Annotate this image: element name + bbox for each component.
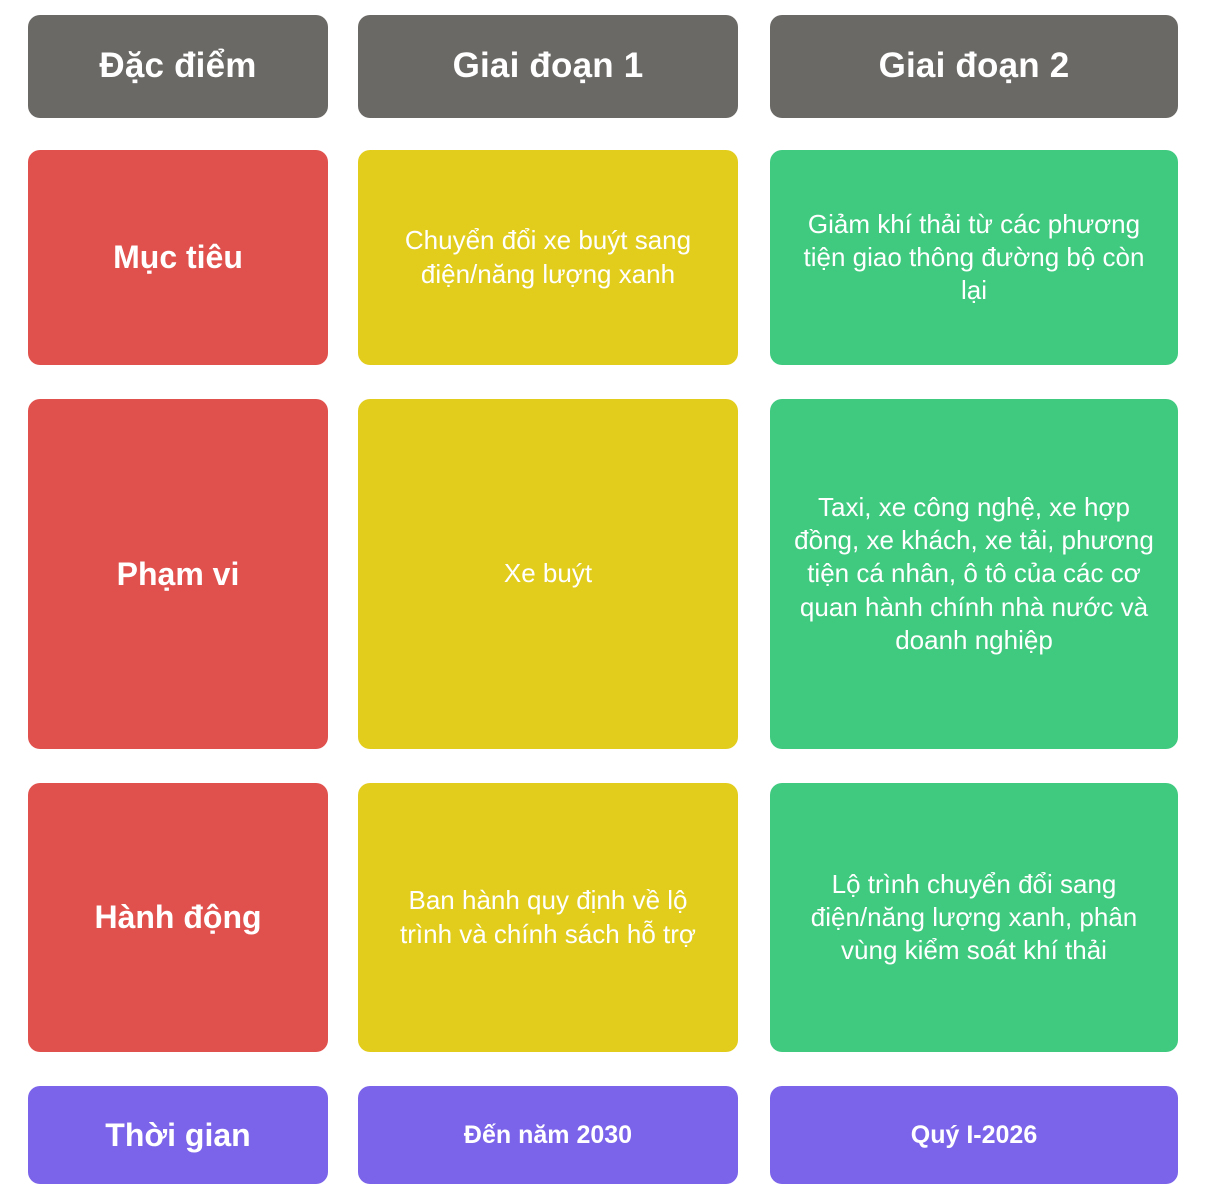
row-label-action: Hành động	[28, 783, 328, 1052]
cell-text: Quý I-2026	[788, 1119, 1160, 1151]
cell-text: Lộ trình chuyển đổi sang điện/năng lượng…	[792, 868, 1156, 968]
header-label-feature: Đặc điểm	[28, 44, 328, 89]
header-cell-feature: Đặc điểm	[28, 15, 328, 118]
header-label-phase1: Giai đoạn 1	[358, 44, 738, 89]
cell-time-phase1: Đến năm 2030	[358, 1086, 738, 1184]
cell-time-phase2: Quý I-2026	[770, 1086, 1178, 1184]
cell-text: Giảm khí thải từ các phương tiện giao th…	[792, 208, 1156, 308]
header-cell-phase1: Giai đoạn 1	[358, 15, 738, 118]
cell-text: Xe buýt	[380, 557, 716, 590]
table-header-row: Đặc điểm Giai đoạn 1 Giai đoạn 2	[28, 15, 1178, 118]
table-row: Hành động Ban hành quy định về lộ trình …	[28, 783, 1178, 1052]
row-label-text: Thời gian	[28, 1115, 328, 1156]
cell-objective-phase1: Chuyển đổi xe buýt sang điện/năng lượng …	[358, 150, 738, 365]
cell-text: Taxi, xe công nghệ, xe hợp đồng, xe khác…	[792, 491, 1156, 657]
cell-scope-phase1: Xe buýt	[358, 399, 738, 749]
cell-text: Ban hành quy định về lộ trình và chính s…	[380, 884, 716, 951]
cell-action-phase2: Lộ trình chuyển đổi sang điện/năng lượng…	[770, 783, 1178, 1052]
row-label-time: Thời gian	[28, 1086, 328, 1184]
header-label-phase2: Giai đoạn 2	[770, 44, 1178, 89]
header-cell-phase2: Giai đoạn 2	[770, 15, 1178, 118]
cell-scope-phase2: Taxi, xe công nghệ, xe hợp đồng, xe khác…	[770, 399, 1178, 749]
row-label-objective: Mục tiêu	[28, 150, 328, 365]
row-label-text: Hành động	[28, 897, 328, 938]
cell-objective-phase2: Giảm khí thải từ các phương tiện giao th…	[770, 150, 1178, 365]
comparison-table: Đặc điểm Giai đoạn 1 Giai đoạn 2 Mục tiê…	[0, 0, 1215, 1200]
row-label-text: Mục tiêu	[28, 237, 328, 278]
row-label-text: Phạm vi	[28, 554, 328, 595]
table-row: Phạm vi Xe buýt Taxi, xe công nghệ, xe h…	[28, 399, 1178, 749]
cell-text: Đến năm 2030	[376, 1119, 720, 1151]
table-row: Thời gian Đến năm 2030 Quý I-2026	[28, 1086, 1178, 1184]
cell-text: Chuyển đổi xe buýt sang điện/năng lượng …	[380, 224, 716, 291]
row-label-scope: Phạm vi	[28, 399, 328, 749]
cell-action-phase1: Ban hành quy định về lộ trình và chính s…	[358, 783, 738, 1052]
table-row: Mục tiêu Chuyển đổi xe buýt sang điện/nă…	[28, 150, 1178, 365]
